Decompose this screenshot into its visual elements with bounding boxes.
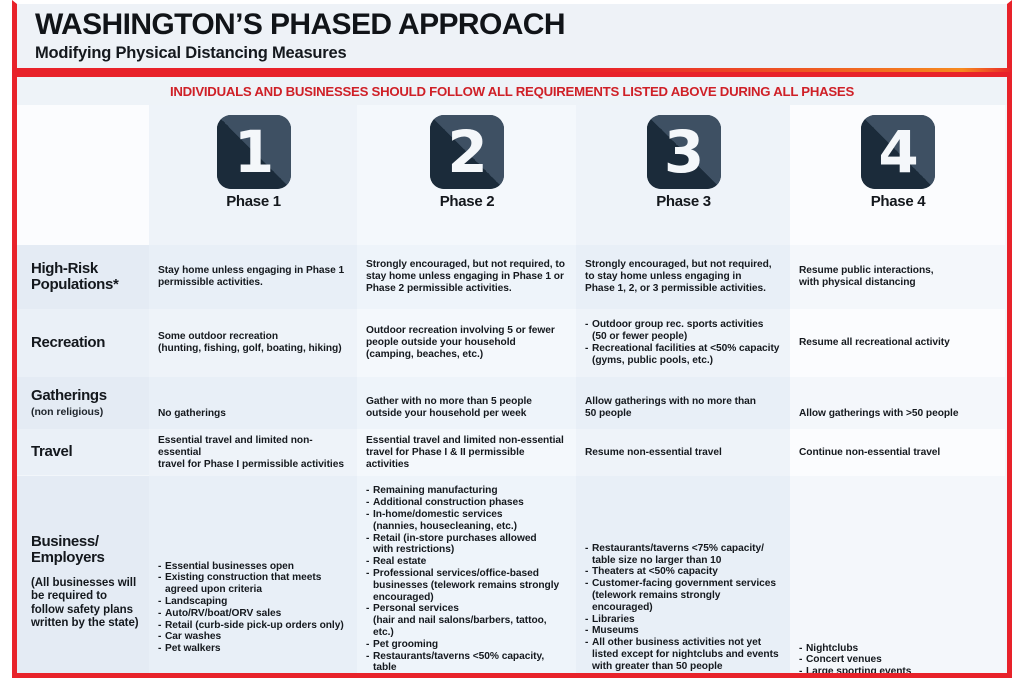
phase-2-icon: 2 bbox=[430, 115, 504, 189]
row-label-high-risk: High-Risk Populations* bbox=[17, 245, 149, 309]
cell-recreation-phase-4: Resume all recreational activity bbox=[790, 309, 1005, 377]
infographic-root: WASHINGTON’S PHASED APPROACH Modifying P… bbox=[0, 0, 1024, 682]
row-label-business-note: (All businesses will be required to foll… bbox=[31, 577, 143, 631]
cell-recreation-phase-3: Outdoor group rec. sports activities(50 … bbox=[576, 309, 790, 377]
row-label-high-risk-text: High-Risk Populations* bbox=[31, 261, 143, 294]
cell-high-risk-phase-2: Strongly encouraged, but not required, t… bbox=[357, 245, 576, 309]
list-item: Restaurants/taverns <75% capacity/table … bbox=[585, 543, 782, 567]
phase-header-4: 4 Phase 4 bbox=[790, 105, 1005, 245]
title-bar: WASHINGTON’S PHASED APPROACH Modifying P… bbox=[12, 0, 1012, 68]
requirements-banner-text: INDIVIDUALS AND BUSINESSES SHOULD FOLLOW… bbox=[170, 84, 854, 99]
phase-4-number: 4 bbox=[878, 123, 917, 181]
list-item: Retail (in-store purchases allowedwith r… bbox=[366, 533, 568, 557]
phase-header-3: 3 Phase 3 bbox=[576, 105, 790, 245]
cell-business-phase-4: NightclubsConcert venuesLarge sporting e… bbox=[790, 476, 1005, 678]
row-label-travel: Travel bbox=[17, 429, 149, 475]
cell-business-phase-2: Remaining manufacturingAdditional constr… bbox=[357, 476, 576, 678]
phase-1-label: Phase 1 bbox=[226, 196, 281, 208]
list-item: Additional construction phases bbox=[366, 497, 568, 509]
phase-1-number: 1 bbox=[234, 123, 273, 181]
phase-3-label: Phase 3 bbox=[656, 196, 711, 208]
phase-2-label: Phase 2 bbox=[440, 196, 495, 208]
business-phase-2-list: Remaining manufacturingAdditional constr… bbox=[366, 485, 568, 678]
cell-recreation-phase-2: Outdoor recreation involving 5 or fewer … bbox=[357, 309, 576, 377]
page-title: WASHINGTON’S PHASED APPROACH bbox=[35, 8, 1007, 42]
business-phase-3-list: Restaurants/taverns <75% capacity/table … bbox=[585, 543, 782, 673]
list-item: Remaining manufacturing bbox=[366, 485, 568, 497]
business-phase-4-list: NightclubsConcert venuesLarge sporting e… bbox=[799, 643, 997, 678]
list-item: Pet walkers bbox=[158, 643, 349, 655]
cell-business-phase-3: Restaurants/taverns <75% capacity/table … bbox=[576, 476, 790, 678]
cell-gatherings-phase-4: Allow gatherings with >50 people bbox=[790, 377, 1005, 429]
phase-4-icon: 4 bbox=[861, 115, 935, 189]
list-item: Auto/RV/boat/ORV sales bbox=[158, 608, 349, 620]
row-label-gatherings-sub: (non religious) bbox=[31, 406, 143, 418]
row-label-travel-text: Travel bbox=[31, 444, 143, 461]
recreation-phase-3-list: Outdoor group rec. sports activities(50 … bbox=[585, 319, 782, 366]
phase-4-label: Phase 4 bbox=[871, 196, 926, 208]
cell-gatherings-phase-2: Gather with no more than 5 people outsid… bbox=[357, 377, 576, 429]
business-phase-1-list: Essential businesses openExisting constr… bbox=[158, 561, 349, 655]
list-item: Pet grooming bbox=[366, 639, 568, 651]
page-subtitle: Modifying Physical Distancing Measures bbox=[35, 43, 1007, 63]
table-corner-cell bbox=[17, 105, 149, 245]
list-item: Outdoor group rec. sports activities(50 … bbox=[585, 319, 782, 343]
phase-2-number: 2 bbox=[447, 123, 486, 181]
list-item: Concert venues bbox=[799, 654, 997, 666]
phase-3-icon: 3 bbox=[647, 115, 721, 189]
row-label-business-text: Business/ Employers bbox=[31, 534, 143, 567]
list-item: Professional services/office-basedbusine… bbox=[366, 568, 568, 603]
list-item: Landscaping bbox=[158, 596, 349, 608]
list-item: All other business activities not yetlis… bbox=[585, 637, 782, 672]
cell-travel-phase-4: Continue non-essential travel bbox=[790, 429, 1005, 476]
list-item: Libraries bbox=[585, 614, 782, 626]
requirements-banner: INDIVIDUALS AND BUSINESSES SHOULD FOLLOW… bbox=[17, 77, 1007, 105]
cell-travel-phase-1: Essential travel and limited non-essenti… bbox=[149, 429, 357, 476]
row-label-gatherings-text: Gatherings bbox=[31, 388, 143, 405]
phase-header-2: 2 Phase 2 bbox=[357, 105, 576, 245]
phase-1-icon: 1 bbox=[217, 115, 291, 189]
list-item: Museums bbox=[585, 625, 782, 637]
cell-travel-phase-2: Essential travel and limited non-essenti… bbox=[357, 429, 576, 476]
list-item: Restaurants/taverns <50% capacity, table… bbox=[366, 651, 568, 678]
list-item: Personal services(hair and nail salons/b… bbox=[366, 603, 568, 638]
list-item: Essential businesses open bbox=[158, 561, 349, 573]
list-item: Retail (curb-side pick-up orders only) bbox=[158, 620, 349, 632]
cell-high-risk-phase-1: Stay home unless engaging in Phase 1 per… bbox=[149, 245, 357, 309]
list-item: Theaters at <50% capacity bbox=[585, 566, 782, 578]
cell-gatherings-phase-3: Allow gatherings with no more than 50 pe… bbox=[576, 377, 790, 429]
list-item: Car washes bbox=[158, 631, 349, 643]
phase-3-number: 3 bbox=[664, 123, 703, 181]
row-label-business: Business/ Employers (All businesses will… bbox=[17, 476, 149, 678]
cell-high-risk-phase-3: Strongly encouraged, but not required, t… bbox=[576, 245, 790, 309]
list-item: Existing construction that meetsagreed u… bbox=[158, 572, 349, 596]
row-label-recreation: Recreation bbox=[17, 309, 149, 377]
cell-recreation-phase-1: Some outdoor recreation (hunting, fishin… bbox=[149, 309, 357, 377]
row-label-gatherings: Gatherings (non religious) bbox=[17, 377, 149, 429]
cell-travel-phase-3: Resume non-essential travel bbox=[576, 429, 790, 476]
cell-high-risk-phase-4: Resume public interactions, with physica… bbox=[790, 245, 1005, 309]
phases-table: 1 Phase 1 2 Phase 2 3 Phase 3 4 bbox=[17, 105, 1007, 678]
list-item: Customer-facing government services(tele… bbox=[585, 578, 782, 613]
phase-header-1: 1 Phase 1 bbox=[149, 105, 357, 245]
list-item: In-home/domestic services(nannies, house… bbox=[366, 509, 568, 533]
cell-gatherings-phase-1: No gatherings bbox=[149, 377, 357, 429]
list-item: Recreational facilities at <50% capacity… bbox=[585, 343, 782, 367]
list-item: Real estate bbox=[366, 556, 568, 568]
cell-business-phase-1: Essential businesses openExisting constr… bbox=[149, 476, 357, 678]
list-item: Nightclubs bbox=[799, 643, 997, 655]
list-item: Large sporting events bbox=[799, 666, 997, 678]
row-label-recreation-text: Recreation bbox=[31, 335, 143, 352]
phases-panel: INDIVIDUALS AND BUSINESSES SHOULD FOLLOW… bbox=[12, 72, 1012, 678]
